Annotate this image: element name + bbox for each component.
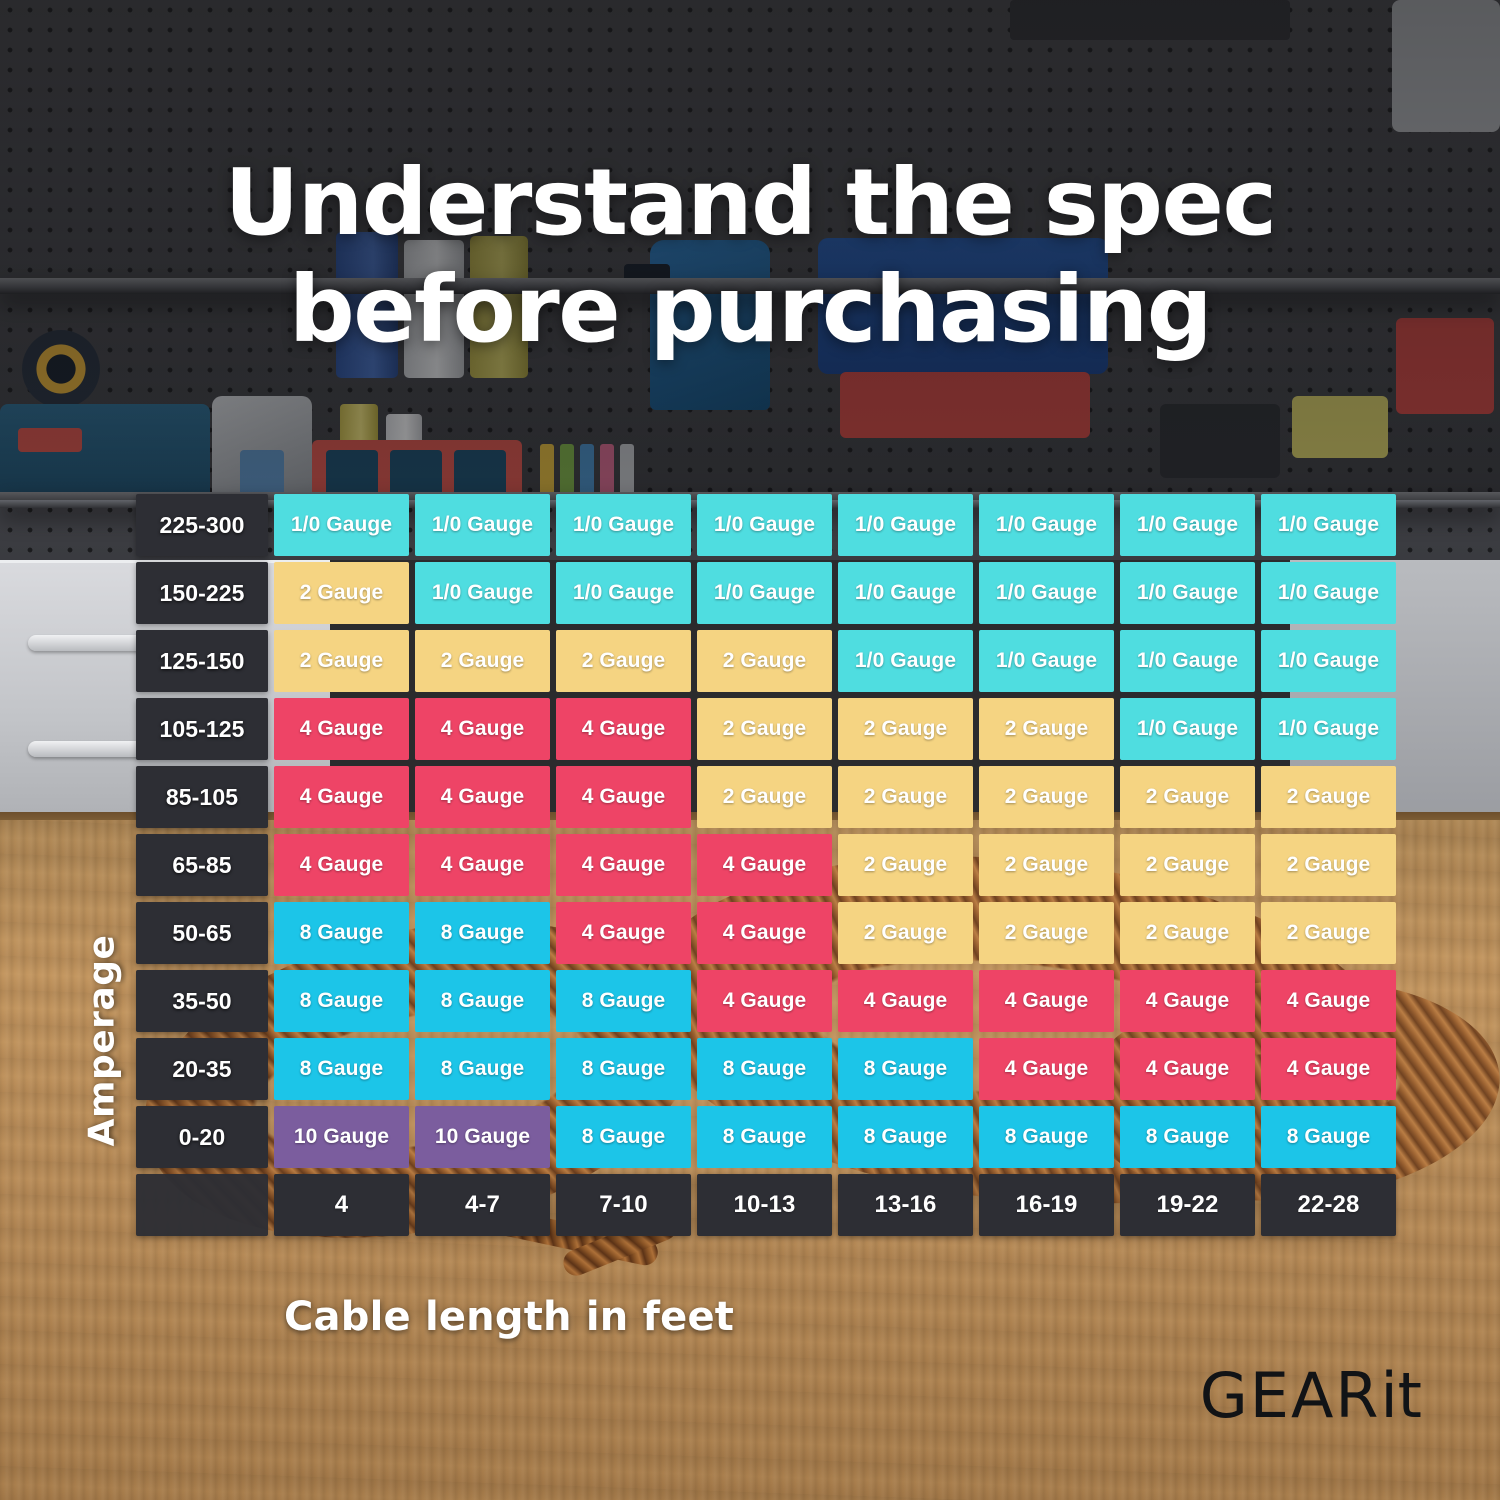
gauge-cell: 1/0 Gauge <box>838 630 973 692</box>
gauge-cell: 4 Gauge <box>697 902 832 964</box>
matrix-row: 65-854 Gauge4 Gauge4 Gauge4 Gauge2 Gauge… <box>136 834 1396 896</box>
cabinet-handle-lower-icon <box>28 741 146 757</box>
gauge-cell: 1/0 Gauge <box>1261 562 1396 624</box>
matrix-row: 85-1054 Gauge4 Gauge4 Gauge2 Gauge2 Gaug… <box>136 766 1396 828</box>
gauge-cell: 10 Gauge <box>274 1106 409 1168</box>
gauge-cell: 8 Gauge <box>838 1106 973 1168</box>
gauge-cell: 2 Gauge <box>697 630 832 692</box>
gauge-cell: 2 Gauge <box>979 834 1114 896</box>
gauge-cell: 1/0 Gauge <box>838 494 973 556</box>
amperage-row-header: 125-150 <box>136 630 268 692</box>
gauge-cell: 1/0 Gauge <box>1261 630 1396 692</box>
matrix-corner-cell <box>136 1174 268 1236</box>
matrix-row: 105-1254 Gauge4 Gauge4 Gauge2 Gauge2 Gau… <box>136 698 1396 760</box>
gauge-cell: 1/0 Gauge <box>1120 562 1255 624</box>
gauge-cell: 8 Gauge <box>415 970 550 1032</box>
gauge-cell: 8 Gauge <box>697 1038 832 1100</box>
gauge-cell: 1/0 Gauge <box>1120 494 1255 556</box>
gauge-cell: 4 Gauge <box>415 698 550 760</box>
amperage-row-header: 35-50 <box>136 970 268 1032</box>
gauge-cell: 4 Gauge <box>415 834 550 896</box>
gauge-cell: 2 Gauge <box>274 630 409 692</box>
amperage-row-header: 65-85 <box>136 834 268 896</box>
cable-length-column-header: 4 <box>274 1174 409 1236</box>
logo-text-primary: GEAR <box>1200 1359 1381 1432</box>
gauge-cell: 8 Gauge <box>1261 1106 1396 1168</box>
gauge-cell: 1/0 Gauge <box>979 630 1114 692</box>
gauge-selection-matrix: 225-3001/0 Gauge1/0 Gauge1/0 Gauge1/0 Ga… <box>136 494 1396 1236</box>
gauge-cell: 2 Gauge <box>556 630 691 692</box>
gauge-cell: 1/0 Gauge <box>1120 630 1255 692</box>
gauge-cell: 4 Gauge <box>979 1038 1114 1100</box>
gauge-cell: 1/0 Gauge <box>415 494 550 556</box>
cable-length-column-header: 13-16 <box>838 1174 973 1236</box>
logo-text-secondary: it <box>1380 1359 1422 1432</box>
gauge-cell: 8 Gauge <box>556 1038 691 1100</box>
matrix-row: 50-658 Gauge8 Gauge4 Gauge4 Gauge2 Gauge… <box>136 902 1396 964</box>
gauge-cell: 4 Gauge <box>556 766 691 828</box>
gauge-cell: 4 Gauge <box>979 970 1114 1032</box>
gauge-cell: 8 Gauge <box>274 970 409 1032</box>
matrix-row: 150-2252 Gauge1/0 Gauge1/0 Gauge1/0 Gaug… <box>136 562 1396 624</box>
gauge-cell: 4 Gauge <box>274 766 409 828</box>
matrix-row: 20-358 Gauge8 Gauge8 Gauge8 Gauge8 Gauge… <box>136 1038 1396 1100</box>
gauge-cell: 4 Gauge <box>415 766 550 828</box>
gauge-cell: 2 Gauge <box>274 562 409 624</box>
matrix-row: 225-3001/0 Gauge1/0 Gauge1/0 Gauge1/0 Ga… <box>136 494 1396 556</box>
gauge-cell: 1/0 Gauge <box>979 562 1114 624</box>
gauge-cell: 2 Gauge <box>1120 834 1255 896</box>
cable-length-column-header: 16-19 <box>979 1174 1114 1236</box>
gauge-cell: 1/0 Gauge <box>415 562 550 624</box>
gauge-cell: 2 Gauge <box>1261 902 1396 964</box>
gauge-cell: 2 Gauge <box>1120 766 1255 828</box>
gauge-cell: 8 Gauge <box>838 1038 973 1100</box>
matrix-row: 125-1502 Gauge2 Gauge2 Gauge2 Gauge1/0 G… <box>136 630 1396 692</box>
gauge-cell: 4 Gauge <box>1120 1038 1255 1100</box>
amperage-row-header: 50-65 <box>136 902 268 964</box>
x-axis-label: Cable length in feet <box>284 1294 734 1340</box>
gauge-cell: 8 Gauge <box>274 902 409 964</box>
column-header-row: 44-77-1010-1313-1616-1919-2222-28 <box>136 1174 1396 1236</box>
gauge-cell: 2 Gauge <box>979 902 1114 964</box>
gauge-cell: 4 Gauge <box>1261 970 1396 1032</box>
gauge-cell: 2 Gauge <box>415 630 550 692</box>
gauge-cell: 4 Gauge <box>838 970 973 1032</box>
gauge-cell: 4 Gauge <box>697 970 832 1032</box>
gauge-cell: 2 Gauge <box>838 698 973 760</box>
gauge-cell: 4 Gauge <box>697 834 832 896</box>
gauge-cell: 1/0 Gauge <box>556 562 691 624</box>
cable-length-column-header: 7-10 <box>556 1174 691 1236</box>
gauge-cell: 1/0 Gauge <box>556 494 691 556</box>
gauge-cell: 1/0 Gauge <box>838 562 973 624</box>
gauge-cell: 4 Gauge <box>556 834 691 896</box>
gauge-cell: 8 Gauge <box>415 1038 550 1100</box>
amperage-row-header: 0-20 <box>136 1106 268 1168</box>
gauge-cell: 1/0 Gauge <box>1261 494 1396 556</box>
gauge-cell: 2 Gauge <box>838 834 973 896</box>
gauge-cell: 2 Gauge <box>838 902 973 964</box>
gauge-cell: 2 Gauge <box>979 698 1114 760</box>
gauge-cell: 1/0 Gauge <box>697 494 832 556</box>
cable-length-column-header: 10-13 <box>697 1174 832 1236</box>
page-title-line-2: before purchasing <box>0 257 1500 364</box>
gauge-cell: 2 Gauge <box>1120 902 1255 964</box>
gauge-cell: 1/0 Gauge <box>979 494 1114 556</box>
page-title: Understand the spec before purchasing <box>0 150 1500 363</box>
gauge-cell: 8 Gauge <box>1120 1106 1255 1168</box>
page-title-line-1: Understand the spec <box>0 150 1500 257</box>
gearit-logo: GEAR it <box>1200 1359 1422 1432</box>
gauge-cell: 8 Gauge <box>556 970 691 1032</box>
gauge-cell: 1/0 Gauge <box>1120 698 1255 760</box>
gauge-cell: 10 Gauge <box>415 1106 550 1168</box>
gauge-cell: 2 Gauge <box>979 766 1114 828</box>
cabinet-handle-upper-icon <box>28 635 146 651</box>
gauge-cell: 2 Gauge <box>697 766 832 828</box>
gauge-cell: 2 Gauge <box>1261 834 1396 896</box>
matrix-row: 35-508 Gauge8 Gauge8 Gauge4 Gauge4 Gauge… <box>136 970 1396 1032</box>
gauge-cell: 2 Gauge <box>1261 766 1396 828</box>
gauge-cell: 2 Gauge <box>838 766 973 828</box>
cable-length-column-header: 19-22 <box>1120 1174 1255 1236</box>
y-axis-label: Amperage <box>82 921 123 1161</box>
gauge-cell: 4 Gauge <box>556 698 691 760</box>
gauge-cell: 4 Gauge <box>556 902 691 964</box>
gauge-cell: 4 Gauge <box>1261 1038 1396 1100</box>
gauge-cell: 2 Gauge <box>697 698 832 760</box>
amperage-row-header: 105-125 <box>136 698 268 760</box>
cable-length-column-header: 4-7 <box>415 1174 550 1236</box>
gauge-cell: 1/0 Gauge <box>274 494 409 556</box>
gauge-cell: 1/0 Gauge <box>697 562 832 624</box>
amperage-row-header: 85-105 <box>136 766 268 828</box>
amperage-row-header: 20-35 <box>136 1038 268 1100</box>
gauge-cell: 8 Gauge <box>556 1106 691 1168</box>
amperage-row-header: 150-225 <box>136 562 268 624</box>
matrix-row: 0-2010 Gauge10 Gauge8 Gauge8 Gauge8 Gaug… <box>136 1106 1396 1168</box>
gauge-cell: 4 Gauge <box>274 698 409 760</box>
gauge-cell: 4 Gauge <box>1120 970 1255 1032</box>
gauge-cell: 8 Gauge <box>697 1106 832 1168</box>
cable-length-column-header: 22-28 <box>1261 1174 1396 1236</box>
gauge-cell: 4 Gauge <box>274 834 409 896</box>
gauge-cell: 8 Gauge <box>979 1106 1114 1168</box>
gauge-cell: 8 Gauge <box>274 1038 409 1100</box>
amperage-row-header: 225-300 <box>136 494 268 556</box>
gauge-cell: 8 Gauge <box>415 902 550 964</box>
gauge-cell: 1/0 Gauge <box>1261 698 1396 760</box>
